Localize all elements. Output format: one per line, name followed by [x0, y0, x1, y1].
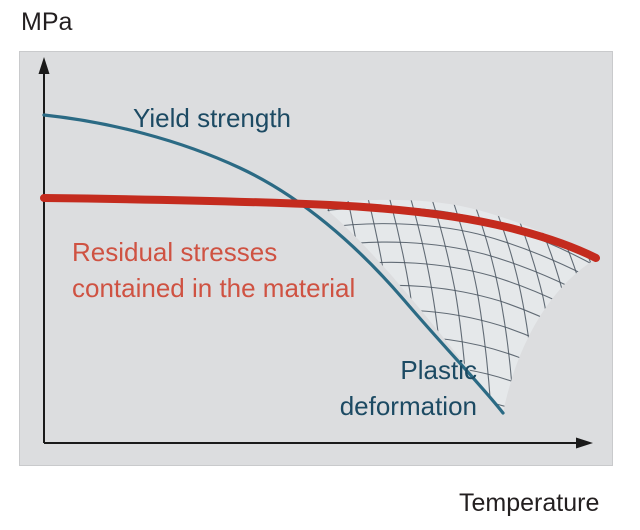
plastic-deformation-label-line-1: Plastic: [400, 355, 477, 385]
residual-stress-label-line-2: contained in the material: [72, 273, 355, 303]
y-axis-unit-label: MPa: [21, 8, 73, 36]
x-axis-name-label: Temperature: [459, 489, 599, 517]
yield-strength-label: Yield strength: [133, 103, 291, 133]
plastic-deformation-label-line-2: deformation: [340, 391, 477, 421]
chart-figure: MPa Temperature Yield strength Residual …: [0, 0, 640, 530]
residual-stress-label-line-1: Residual stresses: [72, 237, 277, 267]
